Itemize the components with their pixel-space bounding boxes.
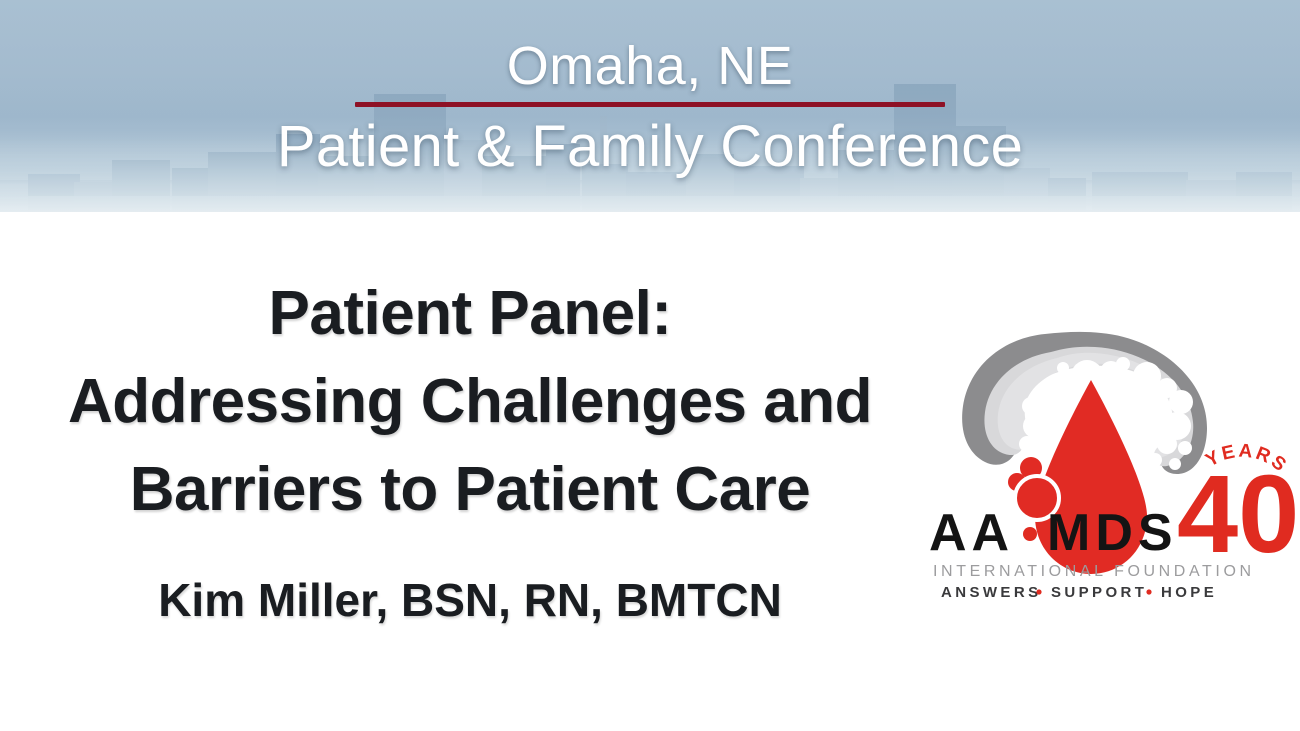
title-line-1: Patient Panel: — [0, 270, 940, 358]
tagline-dot-icon — [1036, 589, 1041, 594]
slide-body: Patient Panel: Addressing Challenges and… — [0, 212, 1300, 731]
header-banner: Omaha, NE Patient & Family Conference — [0, 0, 1300, 212]
title-line-2: Addressing Challenges and — [0, 358, 940, 446]
slide: Omaha, NE Patient & Family Conference Pa… — [0, 0, 1300, 731]
banner-divider-rule — [355, 102, 945, 107]
wordmark-aa: AA — [929, 504, 1014, 562]
logo-tagline-hope: HOPE — [1161, 584, 1217, 601]
logo-tagline-primary: INTERNATIONAL FOUNDATION — [933, 563, 1255, 580]
city-heading: Omaha, NE — [507, 36, 794, 96]
page-title: Patient Panel: Addressing Challenges and… — [0, 270, 940, 534]
conference-heading: Patient & Family Conference — [277, 115, 1023, 179]
title-line-3: Barriers to Patient Care — [0, 446, 940, 534]
logo-tagline-answers: ANSWERS — [941, 584, 1041, 601]
tagline-dot-icon — [1146, 589, 1151, 594]
speaker-name: Kim Miller, BSN, RN, BMTCN — [0, 572, 940, 628]
aamds-logo: AA MDS 40 YEARS INTERNATIONAL FOUNDATION… — [905, 302, 1295, 582]
logo-tagline-support: SUPPORT — [1051, 584, 1147, 601]
wordmark-mds: MDS — [1047, 504, 1178, 562]
wordmark-dot-icon — [1023, 527, 1037, 541]
anniversary-40-years-badge: 40 YEARS — [1177, 441, 1295, 576]
banner-text-group: Omaha, NE Patient & Family Conference — [0, 0, 1300, 212]
